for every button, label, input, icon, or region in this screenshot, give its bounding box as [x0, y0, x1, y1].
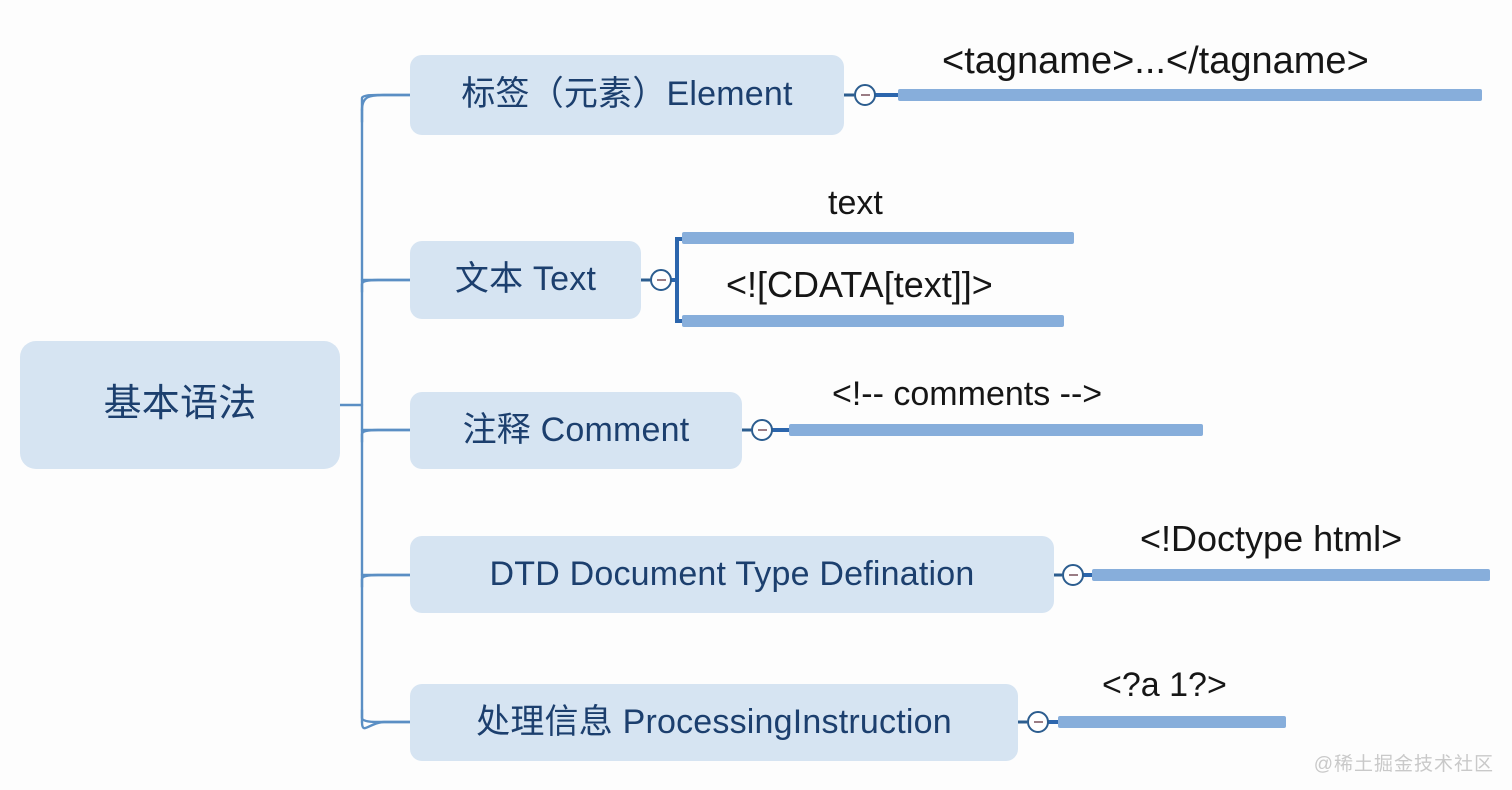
leaf-bar-text-cdata — [682, 315, 1064, 327]
collapse-minus-icon-comment[interactable] — [751, 419, 773, 441]
leaf-text-text-plain: text — [828, 186, 883, 220]
collapse-minus-icon-element[interactable] — [854, 84, 876, 106]
collapse-minus-icon-processing-instruction[interactable] — [1027, 711, 1049, 733]
leaf-bar-comment — [789, 424, 1203, 436]
branch-node-processing-instruction-label: 处理信息 ProcessingInstruction — [410, 705, 1018, 741]
leaf-bar-processing-instruction — [1058, 716, 1286, 728]
mindmap-canvas: 基本语法 标签（元素）Element <tagname>...</tagname… — [0, 0, 1512, 790]
leaf-bar-element — [898, 89, 1482, 101]
branch-node-processing-instruction[interactable]: 处理信息 ProcessingInstruction — [410, 684, 1018, 761]
leaf-text-element: <tagname>...</tagname> — [942, 42, 1369, 80]
branch-node-dtd-label: DTD Document Type Defination — [410, 557, 1054, 593]
branch-node-text-label: 文本 Text — [410, 262, 641, 298]
mindmap-root-node[interactable]: 基本语法 — [20, 341, 340, 469]
branch-node-element-label: 标签（元素）Element — [410, 77, 844, 113]
leaf-bar-dtd — [1092, 569, 1490, 581]
leaf-text-dtd: <!Doctype html> — [1140, 521, 1402, 557]
leaf-text-text-cdata: <![CDATA[text]]> — [726, 267, 993, 303]
leaf-text-processing-instruction: <?a 1?> — [1102, 668, 1227, 702]
leaf-text-comment: <!-- comments --> — [832, 377, 1102, 411]
watermark: @稀土掘金技术社区 — [1314, 749, 1494, 776]
collapse-minus-icon-dtd[interactable] — [1062, 564, 1084, 586]
branch-node-text[interactable]: 文本 Text — [410, 241, 641, 319]
branch-node-comment[interactable]: 注释 Comment — [410, 392, 742, 469]
collapse-minus-icon-text[interactable] — [650, 269, 672, 291]
leaf-bar-text-plain — [682, 232, 1074, 244]
branch-node-element[interactable]: 标签（元素）Element — [410, 55, 844, 135]
branch-node-comment-label: 注释 Comment — [410, 413, 742, 449]
root-node-label: 基本语法 — [20, 385, 340, 425]
branch-node-dtd[interactable]: DTD Document Type Defination — [410, 536, 1054, 613]
